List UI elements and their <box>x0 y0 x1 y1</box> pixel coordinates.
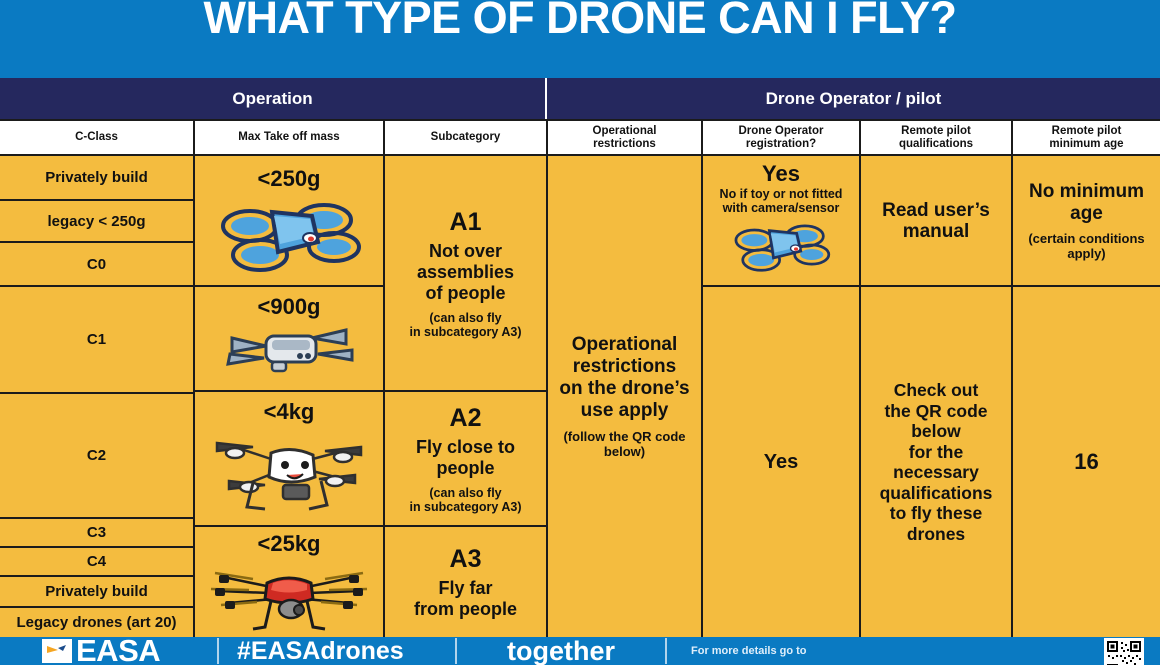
c-class-value: Privately build <box>45 169 148 186</box>
pilot-minimum-age-text: No minimum age <box>1029 181 1144 225</box>
subcategory-note-line: in subcategory A3) <box>409 325 521 339</box>
pilot-qualifications-line: manual <box>882 221 990 242</box>
mass-cell-c2: <4kg <box>195 392 383 527</box>
operational-restrictions-note-line: (follow the QR code <box>563 429 685 444</box>
column-header-operator-registration-line1: Drone Operator <box>739 125 824 137</box>
column-header-c-class: C-Class <box>0 121 195 154</box>
subcategory-description-line: Fly far <box>414 578 517 599</box>
pilot-qualifications-line: for the necessary <box>865 442 1007 483</box>
operator-registration-value: Yes <box>762 162 800 186</box>
subcategory-description-line: from people <box>414 599 517 620</box>
table-row: C1 <box>0 287 193 394</box>
column-header-row: C-Class Max Take off mass Subcategory Op… <box>0 119 1160 156</box>
pilot-minimum-age-line: age <box>1029 203 1144 225</box>
c-class-value: C1 <box>87 331 106 348</box>
pilot-minimum-age-cell-top: No minimum age (certain conditions apply… <box>1013 156 1160 287</box>
footer-together-label: together <box>481 638 641 664</box>
column-pilot-qualifications: Read user’s manual Check out the QR code… <box>861 156 1013 637</box>
subcategory-description-line: Not over <box>417 241 514 262</box>
column-operator-registration: Yes No if toy or not fitted with camera/… <box>703 156 861 637</box>
operator-registration-note-line: with camera/sensor <box>720 201 843 215</box>
table-row: C2 <box>0 394 193 519</box>
operator-registration-note-line: No if toy or not fitted <box>720 187 843 201</box>
pilot-qualifications-line: drones <box>865 524 1007 545</box>
c-class-value: Legacy drones (art 20) <box>16 614 176 631</box>
pilot-minimum-age-line: No minimum <box>1029 181 1144 203</box>
table-row: Privately build <box>0 156 193 201</box>
column-header-pilot-minimum-age-line2: minimum age <box>1049 138 1123 150</box>
operational-restrictions-note-line: below) <box>563 444 685 459</box>
operator-registration-value: Yes <box>764 451 798 474</box>
column-c-class: Privately build legacy < 250g C0 C1 C2 C… <box>0 156 195 637</box>
column-header-operator-registration-line2: registration? <box>746 138 816 150</box>
pilot-minimum-age-value: 16 <box>1074 449 1098 475</box>
pilot-qualifications-text: Check out the QR code below for the nece… <box>865 380 1007 544</box>
pilot-qualifications-line: to fly these <box>865 503 1007 524</box>
subcategory-note-line: in subcategory A3) <box>409 500 521 514</box>
blue-toy-quadcopter-icon <box>722 217 840 273</box>
table-row: C4 <box>0 548 193 577</box>
easa-logo[interactable]: EASA <box>42 637 217 665</box>
subcategory-note: (can also fly in subcategory A3) <box>409 486 521 514</box>
operational-restrictions-cell: Operational restrictions on the drone’s … <box>548 156 701 637</box>
operational-restrictions-line: Operational <box>559 334 689 356</box>
operator-registration-cell-bottom: Yes <box>703 287 859 637</box>
column-header-pilot-qualifications-line1: Remote pilot <box>901 125 971 137</box>
footer-divider <box>665 638 667 664</box>
column-header-pilot-minimum-age: Remote pilot minimum age <box>1013 121 1160 154</box>
footer-divider <box>455 638 457 664</box>
easa-logo-text: EASA <box>76 637 160 665</box>
footer-bar: EASA #EASAdrones together For more detai… <box>0 637 1160 665</box>
group-header-operation-label: Operation <box>232 89 312 109</box>
c-class-value: C2 <box>87 447 106 464</box>
column-header-pilot-qualifications-line2: qualifications <box>899 138 973 150</box>
column-operational-restrictions: Operational restrictions on the drone’s … <box>548 156 703 637</box>
column-subcategory: A1 Not over assemblies of people (can al… <box>385 156 548 637</box>
column-header-max-mass-label: Max Take off mass <box>238 131 339 144</box>
column-header-operational-restrictions: Operational restrictions <box>548 121 703 154</box>
grey-folding-drone-icon <box>214 320 364 382</box>
mass-value: <250g <box>258 167 321 191</box>
pilot-qualifications-cell-top: Read user’s manual <box>861 156 1011 287</box>
mass-cell-c0: <250g <box>195 156 383 287</box>
mass-cell-c1: <900g <box>195 287 383 392</box>
pilot-minimum-age-note: (certain conditions apply) <box>1028 231 1144 261</box>
subcategory-cell-a3: A3 Fly far from people <box>385 527 546 637</box>
mass-value: <900g <box>258 295 321 319</box>
subcategory-description: Not over assemblies of people <box>417 241 514 304</box>
group-header-drone-operator-pilot-label: Drone Operator / pilot <box>766 89 942 109</box>
subcategory-description: Fly far from people <box>414 578 517 620</box>
operator-registration-cell-top: Yes No if toy or not fitted with camera/… <box>703 156 859 287</box>
operational-restrictions-text: Operational restrictions on the drone’s … <box>559 334 689 422</box>
red-hexacopter-drone-icon <box>209 557 369 633</box>
subcategory-note: (can also fly in subcategory A3) <box>409 311 521 339</box>
subcategory-note-line: (can also fly <box>409 311 521 325</box>
group-header-drone-operator-pilot: Drone Operator / pilot <box>547 78 1160 119</box>
qr-code-icon[interactable] <box>1104 638 1144 665</box>
pilot-qualifications-line: the QR code <box>865 401 1007 422</box>
subcategory-note-line: (can also fly <box>409 486 521 500</box>
blue-toy-quadcopter-icon <box>214 192 364 274</box>
pilot-qualifications-line: qualifications <box>865 483 1007 504</box>
group-header-row: Operation Drone Operator / pilot <box>0 78 1160 119</box>
operational-restrictions-line: restrictions <box>559 356 689 378</box>
operational-restrictions-line: on the drone’s <box>559 378 689 400</box>
pilot-qualifications-text: Read user’s manual <box>882 200 990 242</box>
table-row: C0 <box>0 243 193 287</box>
table-row: Legacy drones (art 20) <box>0 608 193 637</box>
subcategory-description-line: Fly close to <box>416 437 515 458</box>
c-class-value: legacy < 250g <box>48 213 146 230</box>
pilot-qualifications-line: Check out <box>865 380 1007 401</box>
column-header-subcategory: Subcategory <box>385 121 548 154</box>
subcategory-cell-a1: A1 Not over assemblies of people (can al… <box>385 156 546 392</box>
infographic-page: WHAT TYPE OF DRONE CAN I FLY? Operation … <box>0 0 1160 665</box>
table-row: legacy < 250g <box>0 201 193 243</box>
table-row: C3 <box>0 519 193 548</box>
pilot-qualifications-cell-bottom: Check out the QR code below for the nece… <box>861 287 1011 637</box>
column-header-pilot-qualifications: Remote pilot qualifications <box>861 121 1013 154</box>
pilot-minimum-age-note-line: (certain conditions <box>1028 231 1144 246</box>
subcategory-description-line: people <box>416 458 515 479</box>
column-header-operational-restrictions-line2: restrictions <box>593 138 656 150</box>
c-class-value: C4 <box>87 553 106 570</box>
column-header-max-mass: Max Take off mass <box>195 121 385 154</box>
easa-eagle-logo-icon <box>42 639 72 663</box>
footer-divider <box>217 638 219 664</box>
footer-hashtag: #EASAdrones <box>237 638 437 664</box>
subcategory-cell-a2: A2 Fly close to people (can also fly in … <box>385 392 546 527</box>
table-row: Privately build <box>0 577 193 608</box>
operator-registration-note: No if toy or not fitted with camera/sens… <box>720 187 843 215</box>
column-max-take-off-mass: <250g <box>195 156 385 637</box>
c-class-value: Privately build <box>45 583 148 600</box>
pilot-minimum-age-cell-bottom: 16 <box>1013 287 1160 637</box>
c-class-value: C0 <box>87 256 106 273</box>
footer-more-details: For more details go to <box>691 645 951 658</box>
subcategory-code: A3 <box>450 544 482 574</box>
subcategory-description: Fly close to people <box>416 437 515 479</box>
mass-cell-c3-c4: <25kg <box>195 527 383 637</box>
mass-value: <4kg <box>264 400 315 424</box>
pilot-minimum-age-note-line: apply) <box>1028 246 1144 261</box>
white-phantom-drone-icon <box>209 425 369 517</box>
table-body: Privately build legacy < 250g C0 C1 C2 C… <box>0 156 1160 637</box>
subcategory-description-line: of people <box>417 283 514 304</box>
column-header-operator-registration: Drone Operator registration? <box>703 121 861 154</box>
operational-restrictions-line: use apply <box>559 400 689 422</box>
title-banner: WHAT TYPE OF DRONE CAN I FLY? <box>0 0 1160 78</box>
column-header-pilot-minimum-age-line1: Remote pilot <box>1052 125 1122 137</box>
subcategory-code: A1 <box>450 207 482 237</box>
column-pilot-minimum-age: No minimum age (certain conditions apply… <box>1013 156 1160 637</box>
column-header-subcategory-label: Subcategory <box>431 131 501 144</box>
page-title: WHAT TYPE OF DRONE CAN I FLY? <box>203 0 956 42</box>
column-header-operational-restrictions-line1: Operational <box>593 125 657 137</box>
pilot-qualifications-line: below <box>865 421 1007 442</box>
operational-restrictions-note: (follow the QR code below) <box>563 429 685 459</box>
pilot-qualifications-line: Read user’s <box>882 200 990 221</box>
mass-value: <25kg <box>258 532 321 556</box>
c-class-value: C3 <box>87 524 106 541</box>
subcategory-code: A2 <box>450 403 482 433</box>
subcategory-description-line: assemblies <box>417 262 514 283</box>
column-header-c-class-label: C-Class <box>75 131 118 144</box>
group-header-operation: Operation <box>0 78 545 119</box>
